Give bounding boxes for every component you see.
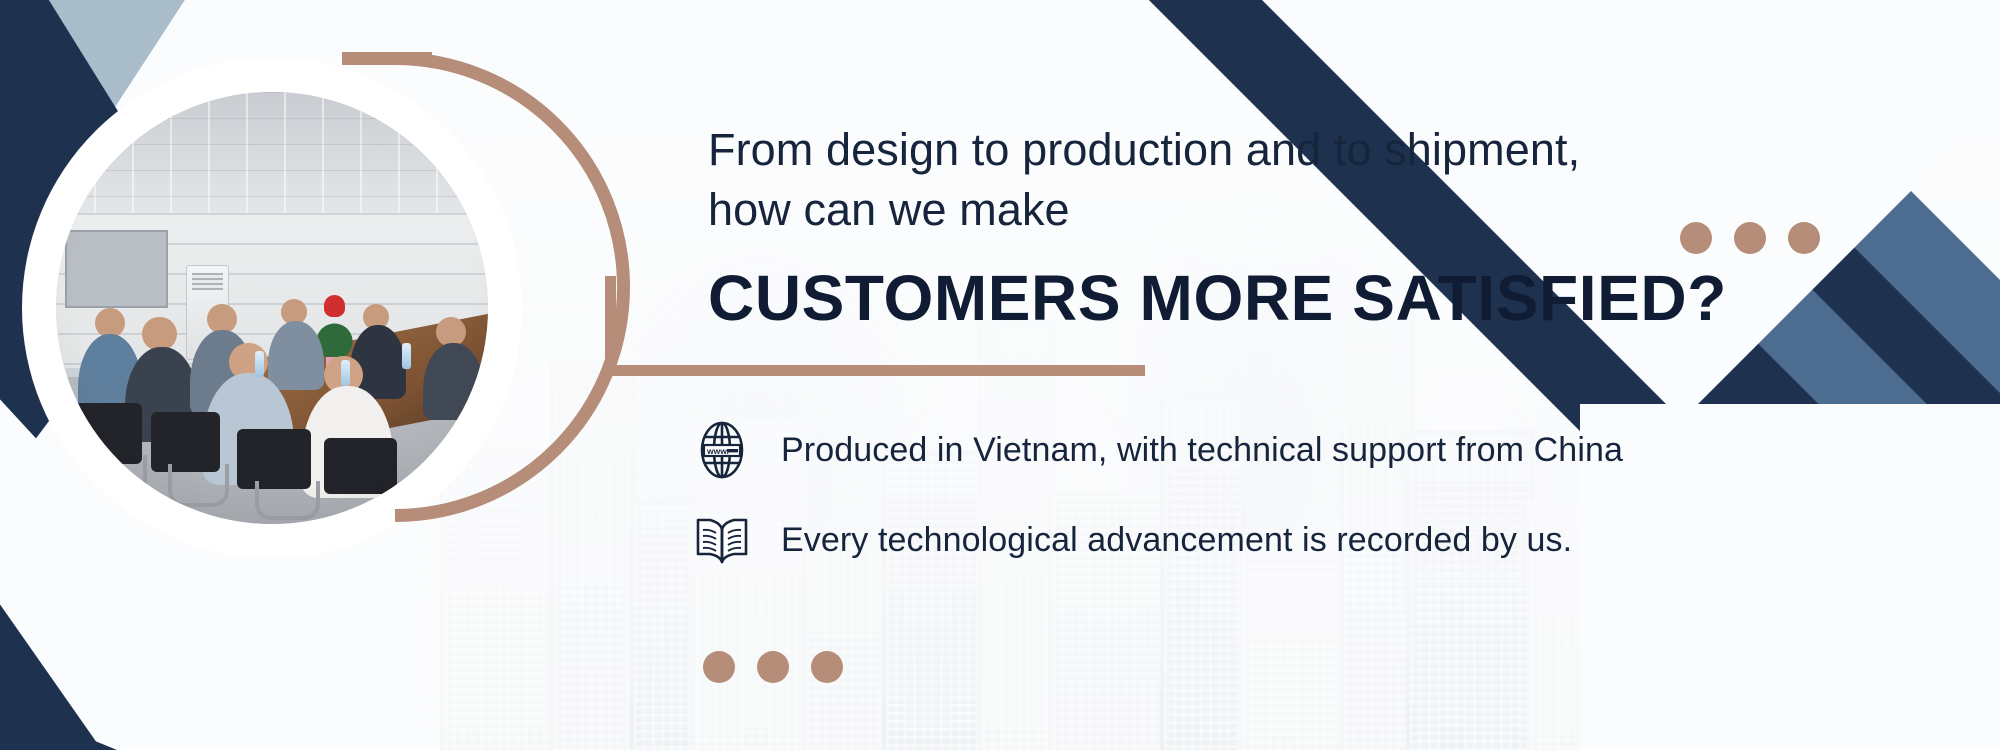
dots-top-right <box>1680 222 1820 254</box>
open-book-icon <box>690 508 754 572</box>
globe-www-icon: www. <box>690 418 754 482</box>
feature-text: Every technological advancement is recor… <box>781 518 1572 562</box>
promo-banner: From design to production and to shipmen… <box>0 0 2000 750</box>
dot <box>703 651 735 683</box>
svg-text:www.: www. <box>706 446 729 456</box>
dot <box>811 651 843 683</box>
page-title: CUSTOMERS MORE SATISFIED? <box>708 262 1908 334</box>
dots-bottom-left <box>703 651 843 683</box>
feature-text: Produced in Vietnam, with technical supp… <box>781 428 1623 472</box>
tan-vertical-stub <box>605 276 616 376</box>
feature-row-production: www. Produced in Vietnam, with technical… <box>690 418 1950 482</box>
dot <box>1788 222 1820 254</box>
dot <box>1734 222 1766 254</box>
dot <box>1680 222 1712 254</box>
feature-row-records: Every technological advancement is recor… <box>690 508 1950 572</box>
left-navy-strip <box>0 690 170 750</box>
tan-arc-cap <box>342 52 432 65</box>
feature-list: www. Produced in Vietnam, with technical… <box>690 418 1950 598</box>
tan-underline <box>605 365 1145 376</box>
dot <box>757 651 789 683</box>
